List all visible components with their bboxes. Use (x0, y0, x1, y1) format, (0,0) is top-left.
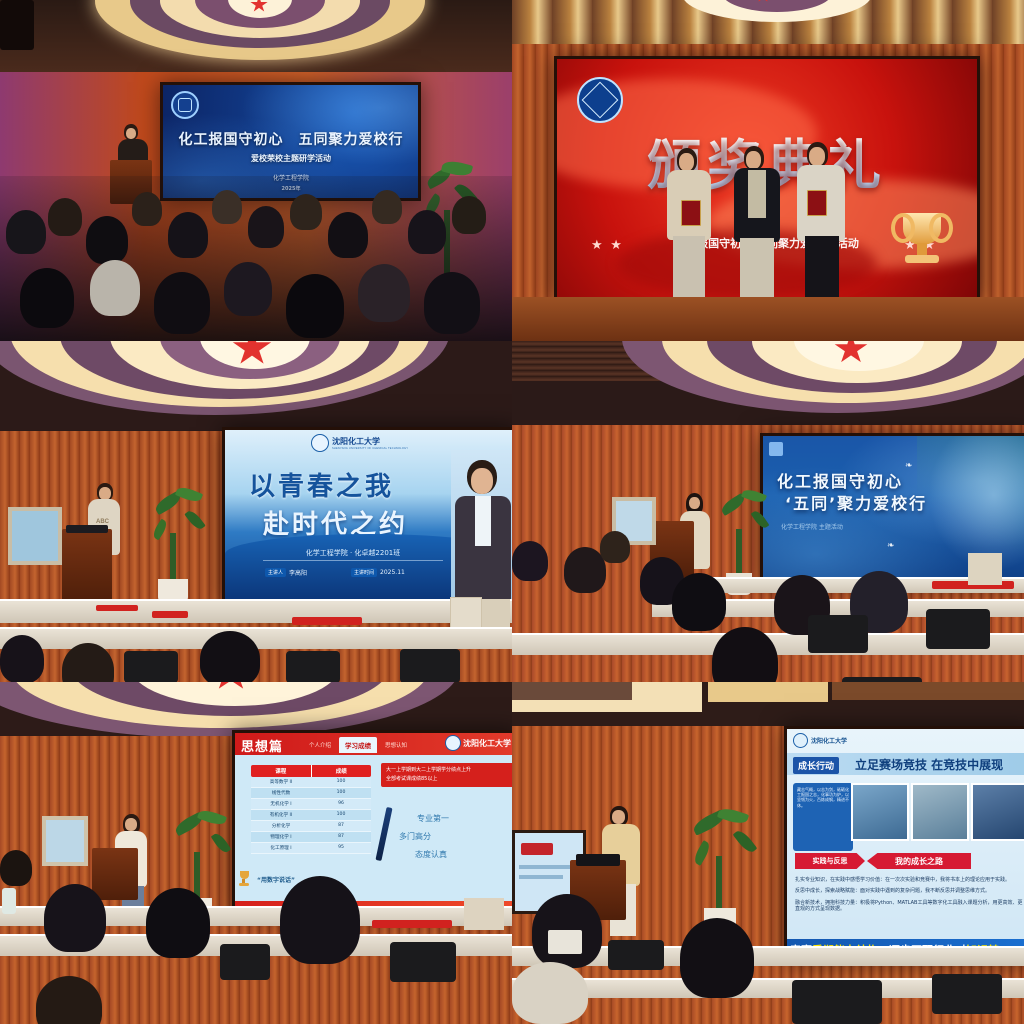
grade-table-header-course: 课程 (251, 765, 311, 777)
panel3-desk-front (0, 599, 512, 623)
panel3-audience (0, 629, 512, 682)
panel5-bullet-1: 大一上学期到大二上学期学分绩点上升 (386, 767, 512, 773)
grade-table-row: 高等数学 II100 (251, 777, 371, 788)
panel-3-youth-pledge-talk: 沈阳化工大学 SHENYANG UNIVERSITY OF CHEMICAL T… (0, 341, 512, 682)
panel6-ribbon-left: 实践与反思 (795, 853, 865, 869)
panel5-bullets: 大一上学期到大二上学期学分绩点上升 全部考试课成绩85以上 (381, 763, 512, 787)
panel1-audience (0, 176, 512, 341)
grade-score: 87 (311, 832, 371, 842)
panel6-ceiling (512, 682, 1024, 726)
panel5-bullet-2: 全部考试课成绩85以上 (386, 776, 512, 782)
panel5-highlight-1: 专业第一 (417, 813, 449, 824)
certificate-right (807, 190, 827, 216)
speaker-portrait (451, 450, 512, 606)
certificate-left (681, 200, 701, 226)
panel3-presentation-screen: 沈阳化工大学 SHENYANG UNIVERSITY OF CHEMICAL T… (222, 427, 512, 609)
panel6-university-name: 沈阳化工大学 (811, 736, 847, 745)
tab-ideological[interactable]: 思想认知 (381, 739, 411, 751)
panel2-left-stars: ★ ★ (591, 237, 624, 253)
panel-5-academic-results-talk: 思想篇 个人介绍 学习成绩 思想认知 沈阳化工大学 课程 成绩 高等数学 II1… (0, 682, 512, 1024)
panel6-sidebar-quote: 藏志气概，以志为剑，砥砺化工报国之志，化事功为炉，以坚韧为火，百炼成钢，精进不休… (793, 783, 853, 851)
panel1-screen-subtitle: 爱校荣校主题研学活动 (175, 153, 407, 164)
panel6-paragraph-1: 扎实专业知识，在实践中感悟学习价值：在一次次实验和竞赛中，我将书本上的理论应用于… (795, 877, 1023, 883)
competition-photo-3 (971, 783, 1024, 841)
grade-course: 高等数学 II (251, 777, 311, 787)
panel2-stage-floor (512, 297, 1024, 341)
tab-academic-results[interactable]: 学习成绩 (339, 737, 377, 753)
panel-4-ink-wash-theme-talk: 化工报国守初心 ‘五同’聚力爱校行 化学工程学院 主题活动 ❧ ❧ (512, 341, 1024, 682)
panel3-plant (150, 489, 216, 607)
grade-score: 96 (311, 799, 371, 809)
panel-6-growth-action-talk: 沈阳化工大学 成长行动 立足赛场竞技 在竞技中展现 藏志气概，以志为剑，砥砺化工… (512, 682, 1024, 1024)
panel3-laptop-icon (66, 525, 108, 533)
panel6-audience (512, 894, 1024, 1024)
panel6-tablet-icon (548, 930, 582, 954)
panel5-highlight-2: 多门高分 (399, 831, 431, 842)
grade-course: 无机化学 I (251, 799, 311, 809)
panel3-time-value: 2025.11 (380, 569, 405, 576)
panel3-podium (62, 529, 112, 601)
water-bottle-icon (2, 888, 16, 914)
university-emblem-icon (171, 91, 199, 119)
panel4-ceiling (512, 341, 1024, 425)
university-emblem-icon (311, 434, 329, 452)
grade-score: 100 (311, 788, 371, 798)
panel3-red-banner-2 (152, 611, 188, 618)
panel5-audience (0, 848, 512, 1024)
grade-score: 87 (311, 821, 371, 831)
panel3-logo-row: 沈阳化工大学 SHENYANG UNIVERSITY OF CHEMICAL T… (311, 434, 408, 452)
panel3-time-label: 主讲时间 (351, 568, 377, 577)
panel4-title-line2: ‘五同’聚力爱校行 (785, 490, 927, 514)
panel4-audience (512, 529, 1024, 682)
panel3-red-banner-1 (96, 605, 138, 611)
panel3-speaker-label: 主讲人 (265, 568, 286, 577)
grade-score: 100 (311, 810, 371, 820)
panel5-ceiling (0, 682, 512, 736)
competition-photo-1 (851, 783, 909, 841)
trophy-icon (893, 209, 951, 269)
tab-personal-intro[interactable]: 个人介绍 (305, 739, 335, 751)
panel6-headline: 立足赛场竞技 在竞技中展现 (855, 756, 1003, 773)
panel5-university-name: 沈阳化工大学 (463, 738, 511, 749)
photo-collage: 化工报国守初心 五同聚力爱校行 爱校荣校主题研学活动 化学工程学院 2025年 (0, 0, 1024, 1024)
grade-score: 100 (311, 777, 371, 787)
panel5-university-emblem-icon (445, 735, 461, 751)
grade-course: 有机化学 II (251, 810, 311, 820)
grade-table-row: 无机化学 I96 (251, 799, 371, 810)
panel3-ceiling (0, 341, 512, 431)
grade-course: 线性代数 (251, 788, 311, 798)
panel2-university-emblem-icon (577, 77, 623, 123)
panel3-university-name: 沈阳化工大学 (332, 436, 408, 447)
crane-icon-1: ❧ (905, 460, 913, 471)
panel3-red-banner-3 (292, 617, 362, 625)
panel3-university-name-en: SHENYANG UNIVERSITY OF CHEMICAL TECHNOLO… (332, 447, 408, 450)
panel1-ceiling (0, 0, 512, 72)
speaker-box-icon (0, 0, 34, 50)
panel-1-lecture-hall-opening: 化工报国守初心 五同聚力爱校行 爱校荣校主题研学活动 化学工程学院 2025年 (0, 0, 512, 341)
panel5-section-title: 思想篇 (241, 736, 283, 755)
grade-course: 物理化学 I (251, 832, 311, 842)
grade-table-row: 分析化学87 (251, 821, 371, 832)
panel3-title-line1: 以青春之我 (249, 466, 394, 503)
panel3-speaker-name: 李高阳 (289, 568, 307, 577)
panel6-ribbon-right: 我的成长之路 (867, 853, 971, 869)
panel6-badge: 成长行动 (793, 757, 839, 774)
panel3-wall-art (8, 507, 62, 565)
panel4-title-line1: 化工报国守初心 (777, 468, 903, 492)
grade-table: 课程 成绩 高等数学 II100线性代数100无机化学 I96有机化学 II10… (251, 765, 371, 854)
panel3-class-line: 化学工程学院 · 化卓越2201班 (263, 548, 443, 561)
panel6-laptop-icon (576, 854, 620, 866)
competition-photo-2 (911, 783, 969, 841)
panel6-university-emblem-icon (793, 733, 808, 748)
grade-table-header-score: 成绩 (312, 765, 372, 777)
panel-2-award-ceremony: 颁奖典礼 ★ ★ ★ ★ 化工报国守初心 五同聚力爱校行 活动 (512, 0, 1024, 341)
panel4-university-emblem-icon (769, 442, 783, 456)
panel5-tabs[interactable]: 个人介绍 学习成绩 思想认知 (305, 737, 411, 753)
grade-table-row: 物理化学 I87 (251, 832, 371, 843)
grade-table-row: 线性代数100 (251, 788, 371, 799)
panel1-screen-title: 化工报国守初心 五同聚力爱校行 (175, 129, 407, 149)
grade-course: 分析化学 (251, 821, 311, 831)
grade-table-row: 有机化学 II100 (251, 810, 371, 821)
